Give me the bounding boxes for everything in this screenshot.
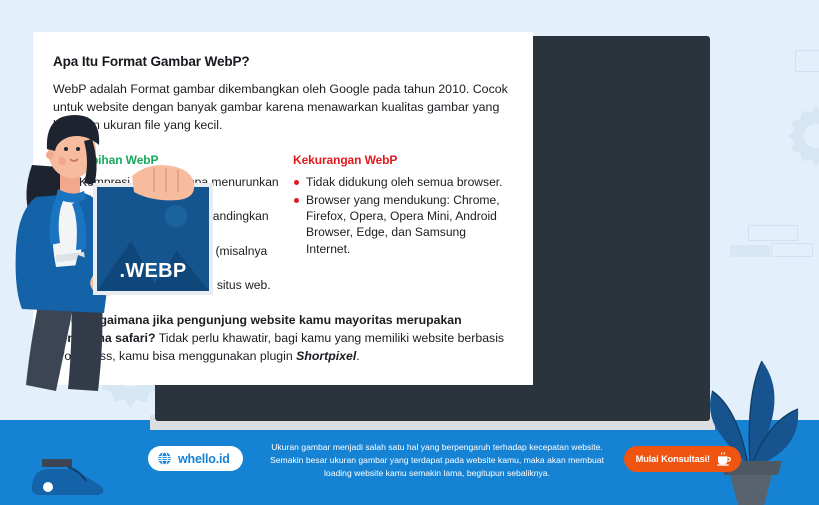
cons-heading: Kekurangan WebP: [293, 153, 508, 167]
cta-button[interactable]: Mulai Konsultasi!: [624, 446, 741, 472]
outro-tail: .: [356, 349, 359, 363]
list-item: Browser yang mendukung: Chrome, Firefox,…: [293, 192, 508, 257]
gear-icon: [780, 100, 819, 172]
plant-illustration: [696, 315, 801, 505]
whello-logo-text: whello.id: [178, 452, 230, 466]
cons-column: Kekurangan WebP Tidak didukung oleh semu…: [293, 153, 508, 295]
cta-button-label: Mulai Konsultasi!: [636, 454, 710, 464]
webp-card-label: .WEBP: [97, 260, 209, 283]
bg-decor-rect-outline: [795, 50, 819, 72]
footer-caption: Ukuran gambar menjadi salah satu hal yan…: [262, 441, 612, 480]
hand-top-illustration: [128, 162, 198, 208]
bg-decor-rect: [730, 245, 770, 257]
list-item: Tidak didukung oleh semua browser.: [293, 174, 508, 190]
outro-emphasis: Shortpixel: [296, 349, 356, 363]
shoe-illustration: [28, 457, 108, 497]
bg-decor-rect-outline: [748, 225, 798, 241]
whello-logo[interactable]: whello.id: [148, 446, 243, 471]
bg-decor-rect-outline: [771, 243, 813, 257]
globe-icon: [157, 451, 172, 466]
coffee-cup-icon: [716, 451, 732, 467]
page-title: Apa Itu Format Gambar WebP?: [53, 54, 513, 69]
cons-list: Tidak didukung oleh semua browser. Brows…: [293, 174, 508, 257]
